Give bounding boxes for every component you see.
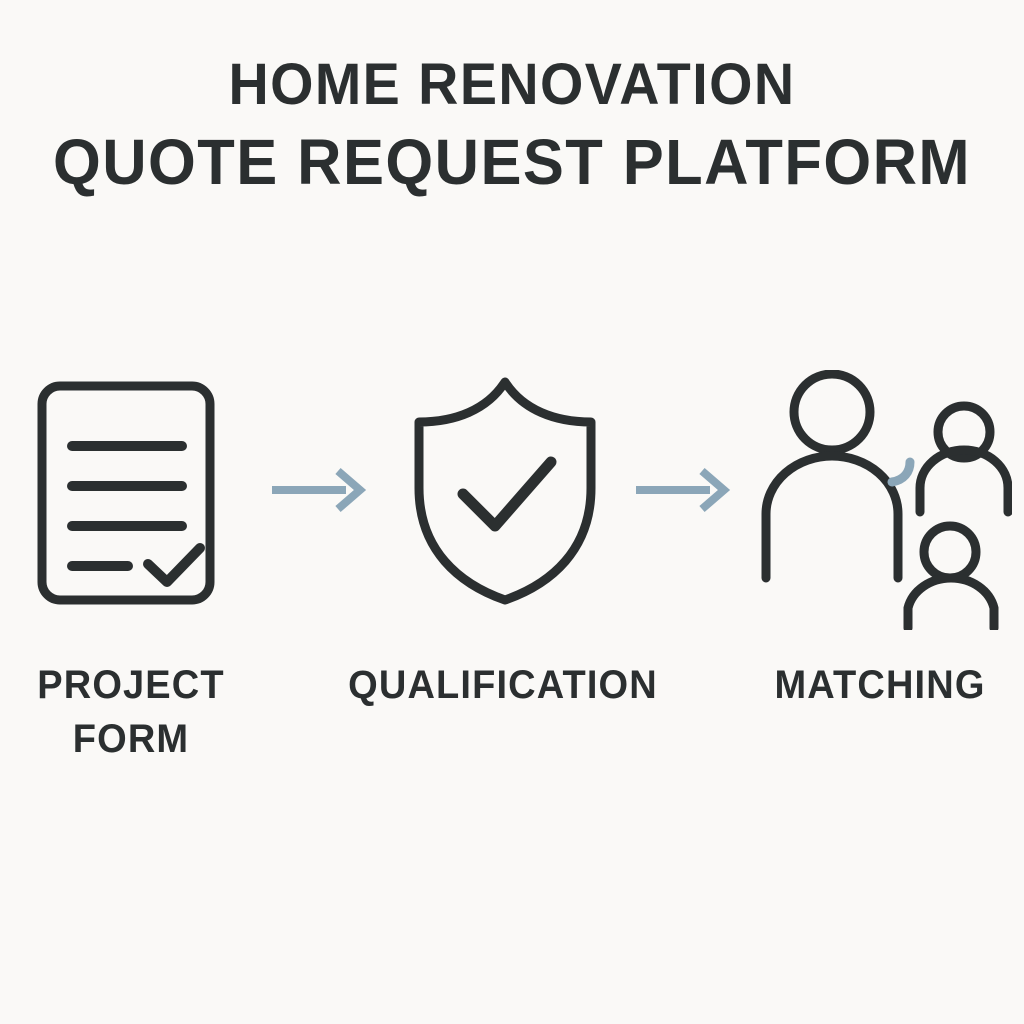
flow-step-labels: PROJECT FORM QUALIFICATION MATCHING xyxy=(0,658,1024,778)
person-head-large xyxy=(794,374,870,450)
step-label-matching: MATCHING xyxy=(755,658,1006,712)
page-title-line-2: QUOTE REQUEST PLATFORM xyxy=(20,130,1003,194)
accent-arc-icon xyxy=(892,462,910,482)
document-checklist-icon xyxy=(20,370,240,610)
step-label-qualification: QUALIFICATION xyxy=(327,658,679,712)
person-body-small-lower xyxy=(908,578,994,628)
arrow-right-icon xyxy=(268,465,368,515)
arrow-right-icon xyxy=(632,465,732,515)
shield-check-icon xyxy=(405,370,605,610)
page-title: HOME RENOVATION QUOTE REQUEST PLATFORM xyxy=(0,56,1024,194)
flow-step-qualification[interactable] xyxy=(405,370,605,610)
step-label-project-form-line-2: FORM xyxy=(24,712,239,766)
step-label-qualification-line-1: QUALIFICATION xyxy=(348,663,658,707)
flow-connector-arrow-1 xyxy=(268,465,368,520)
infographic-canvas: HOME RENOVATION QUOTE REQUEST PLATFORM xyxy=(0,0,1024,1024)
person-head-small-lower xyxy=(924,526,976,578)
step-label-project-form: PROJECT FORM xyxy=(24,658,239,766)
flow-step-project-form[interactable] xyxy=(20,370,240,610)
flow-connector-arrow-2 xyxy=(632,465,732,520)
flow-step-matching[interactable] xyxy=(752,370,1012,610)
person-body-large xyxy=(766,456,898,578)
step-label-project-form-line-1: PROJECT xyxy=(37,663,224,707)
people-group-icon xyxy=(752,370,1012,630)
page-title-line-1: HOME RENOVATION xyxy=(20,56,1003,114)
process-flow xyxy=(0,370,1024,630)
step-label-matching-line-1: MATCHING xyxy=(774,663,985,707)
